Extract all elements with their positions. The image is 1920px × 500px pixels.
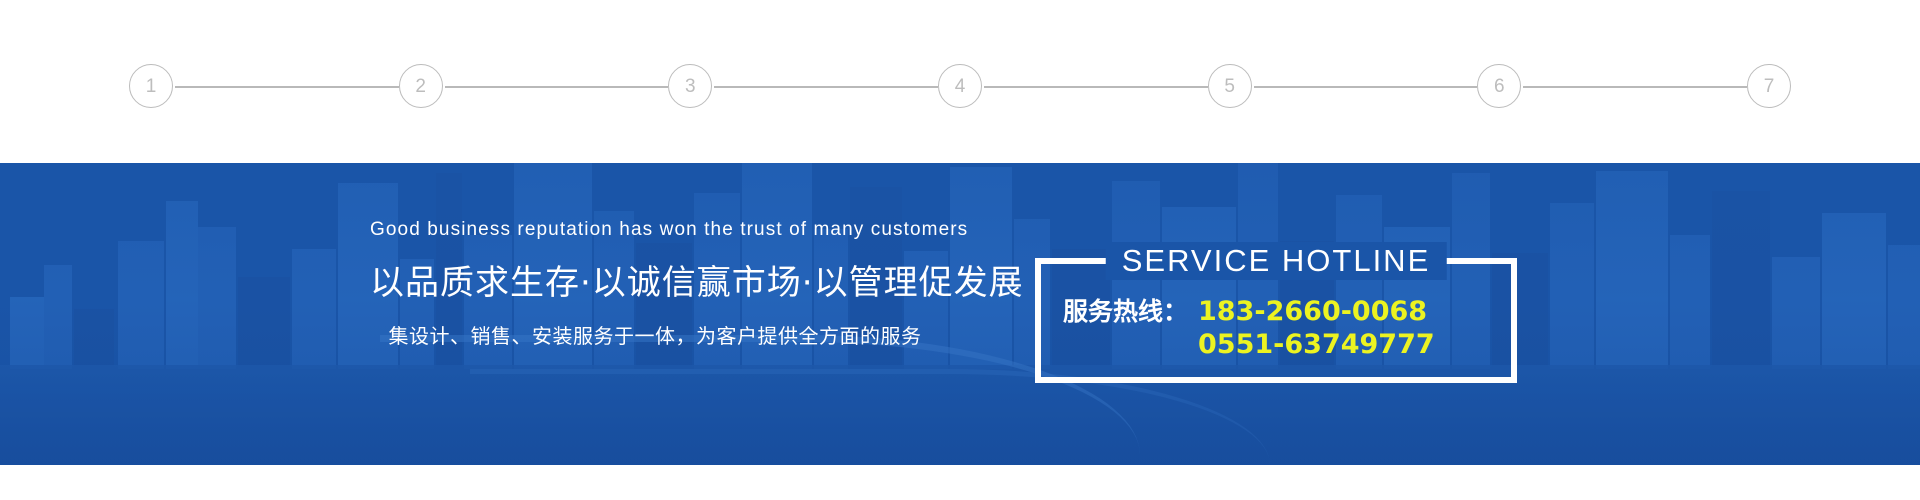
- step-label: 4: [955, 77, 966, 96]
- hotline-row-primary: 服务热线： 183-2660-0068: [1063, 296, 1511, 329]
- step-label: 2: [415, 77, 426, 96]
- slogan-block: Good business reputation has won the tru…: [370, 219, 940, 349]
- stepper-track: 1234567: [152, 64, 1770, 110]
- hotline-title: SERVICE HOTLINE: [1106, 242, 1447, 280]
- promo-banner: Good business reputation has won the tru…: [0, 163, 1920, 465]
- hotline-label: 服务热线：: [1063, 297, 1188, 328]
- banner-page: 1234567: [0, 0, 1920, 500]
- step-node-7[interactable]: 7: [1747, 64, 1791, 108]
- step-node-6[interactable]: 6: [1477, 64, 1521, 108]
- step-label: 5: [1224, 77, 1235, 96]
- hotline-row-secondary: 服务热线： 0551-63749777: [1063, 329, 1511, 362]
- pagination-stepper: 1234567: [0, 0, 1920, 163]
- step-node-4[interactable]: 4: [938, 64, 982, 108]
- hotline-rows: 服务热线： 183-2660-0068 服务热线： 0551-63749777: [1041, 296, 1511, 362]
- step-node-1[interactable]: 1: [129, 64, 173, 108]
- city-skyline-background: [0, 163, 1920, 465]
- slogan-chinese-sub: 集设计、销售、安装服务于一体，为客户提供全方面的服务: [370, 320, 940, 349]
- service-hotline-box: SERVICE HOTLINE 服务热线： 183-2660-0068 服务热线…: [1035, 258, 1517, 383]
- hotline-number-landline[interactable]: 0551-63749777: [1198, 329, 1435, 362]
- step-connector-2: [445, 86, 669, 88]
- slogan-english: Good business reputation has won the tru…: [370, 219, 940, 241]
- step-connector-5: [1254, 86, 1478, 88]
- step-label: 7: [1764, 77, 1775, 96]
- step-label: 6: [1494, 77, 1505, 96]
- step-node-3[interactable]: 3: [668, 64, 712, 108]
- hotline-number-mobile[interactable]: 183-2660-0068: [1198, 296, 1427, 329]
- step-connector-3: [714, 86, 938, 88]
- step-label: 1: [146, 77, 157, 96]
- step-label: 3: [685, 77, 696, 96]
- step-connector-4: [984, 86, 1208, 88]
- step-node-5[interactable]: 5: [1208, 64, 1252, 108]
- step-connector-1: [175, 86, 399, 88]
- slogan-chinese-headline: 以品质求生存·以诚信赢市场·以管理促发展: [370, 255, 940, 304]
- step-node-2[interactable]: 2: [399, 64, 443, 108]
- step-connector-6: [1523, 86, 1747, 88]
